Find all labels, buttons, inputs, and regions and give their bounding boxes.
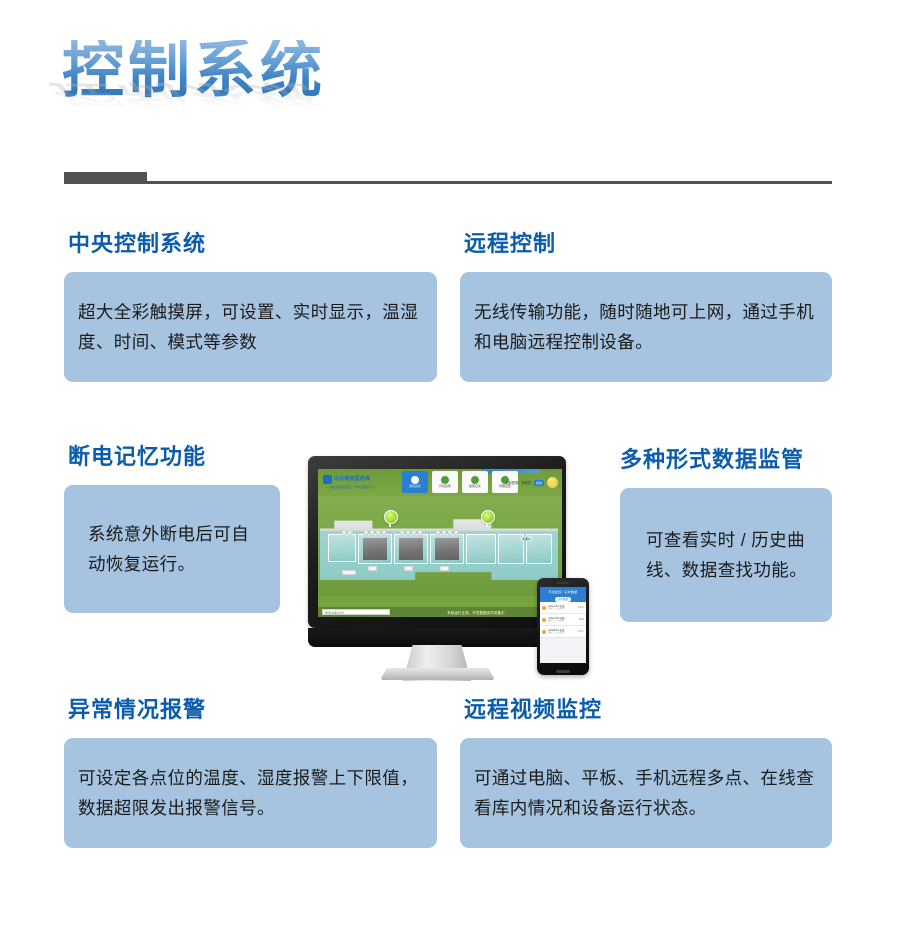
- facility-equipment-unit: [400, 530, 404, 535]
- monitor-screen: 山东神思医药库 — 冷链温湿度监控一体化管理平台 — 监控总览 环境监测 报警记…: [318, 469, 562, 617]
- list-item-value: 2.4℃: [578, 606, 584, 609]
- app-logo-subtext: — 冷链温湿度监控一体化管理平台 —: [325, 485, 378, 489]
- feature-heading: 多种形式数据监管: [620, 448, 832, 472]
- alarm-icon: [471, 476, 479, 484]
- facility-equipment-unit: [376, 530, 380, 535]
- facility-equipment-unit: [454, 530, 458, 535]
- feature-description-box: 可设定各点位的温度、湿度报警上下限值，数据超限发出报警信号。: [64, 738, 437, 848]
- feature-heading: 中央控制系统: [68, 232, 437, 256]
- list-item-subtitle: 更新于 1 分钟前: [548, 620, 577, 623]
- list-item[interactable]: 冷库A-01 温度 更新于 1 分钟前 2.4℃: [540, 602, 586, 614]
- app-logo-text: 山东神思医药库: [334, 477, 370, 483]
- app-tab-bar: 监控总览 环境监测 报警记录 管理设置: [402, 471, 518, 493]
- feature-heading: 异常情况报警: [68, 698, 437, 722]
- tab-environment-monitoring[interactable]: 环境监测: [432, 471, 458, 493]
- facility-equipment-unit: [406, 530, 410, 535]
- facility-rack: [435, 538, 459, 560]
- feature-description-text: 无线传输功能，随时随地可上网，通过手机和电脑远程控制设备。: [474, 297, 818, 358]
- feature-card-remote-control: 远程控制 无线传输功能，随时随地可上网，通过手机和电脑远程控制设备。: [460, 232, 832, 382]
- phone-device: 环境监控 / 实时数据 实时数据 冷库A-01 温度 更新于 1 分钟前 2.4…: [537, 578, 589, 675]
- facility-equipment-unit: [342, 530, 346, 535]
- feature-description-box: 可查看实时 / 历史曲线、数据查找功能。: [620, 488, 832, 622]
- feature-card-multi-form-data-supervision: 多种形式数据监管 可查看实时 / 历史曲线、数据查找功能。: [620, 448, 832, 622]
- phone-home-button[interactable]: [556, 670, 570, 673]
- overview-icon: [411, 476, 419, 484]
- status-dot-icon: [542, 606, 546, 610]
- sensor-marker[interactable]: [481, 510, 495, 524]
- feature-description-text: 系统意外断电后可自动恢复运行。: [88, 519, 266, 580]
- facility-equipment-unit: [418, 530, 422, 535]
- tab-monitoring-overview[interactable]: 监控总览: [402, 471, 428, 493]
- avatar[interactable]: [547, 477, 558, 488]
- feature-description-box: 超大全彩触摸屏，可设置、实时显示，温湿度、时间、模式等参数: [64, 272, 437, 382]
- list-item-value: 56%: [579, 618, 584, 621]
- environment-icon: [441, 476, 449, 484]
- facility-equipment-unit: [440, 566, 449, 571]
- search-input[interactable]: 搜索设备/点位: [322, 609, 390, 615]
- facility-room: [328, 534, 356, 562]
- facility-equipment-unit: [368, 566, 377, 571]
- facility-equipment-unit: [412, 530, 416, 535]
- app-logo: 山东神思医药库: [323, 475, 370, 484]
- divider-thick-segment: [64, 172, 147, 184]
- list-item-main: 冷库A-01 温度 更新于 1 分钟前: [548, 605, 576, 611]
- feature-description-text: 可设定各点位的温度、湿度报警上下限值，数据超限发出报警信号。: [78, 763, 423, 824]
- feature-card-central-control-system: 中央控制系统 超大全彩触摸屏，可设置、实时显示，温湿度、时间、模式等参数: [64, 232, 437, 382]
- list-item-main: 冷库A-02 湿度 更新于 1 分钟前: [548, 617, 577, 623]
- monitor-bezel: 山东神思医药库 — 冷链温湿度监控一体化管理平台 — 监控总览 环境监测 报警记…: [308, 456, 566, 628]
- feature-card-remote-video-monitoring: 远程视频监控 可通过电脑、平板、手机远程多点、在线查看库内情况和设备运行状态。: [460, 698, 832, 848]
- feature-description-text: 超大全彩触摸屏，可设置、实时显示，温湿度、时间、模式等参数: [78, 297, 423, 358]
- monitor-chin: [308, 628, 566, 647]
- feature-heading: 断电记忆功能: [68, 445, 280, 469]
- facility-equipment-unit: [404, 566, 413, 571]
- sensor-marker[interactable]: [384, 510, 398, 524]
- list-item-subtitle: 更新于 2 分钟前: [548, 632, 576, 635]
- feature-heading: 远程控制: [464, 232, 832, 256]
- feature-card-power-off-memory: 断电记忆功能 系统意外断电后可自动恢复运行。: [64, 445, 280, 613]
- facility-3d-floorplan[interactable]: 冷库A: [318, 496, 562, 596]
- tab-alarm-records[interactable]: 报警记录: [462, 471, 488, 493]
- feature-description-box: 无线传输功能，随时随地可上网，通过手机和电脑远程控制设备。: [460, 272, 832, 382]
- list-item[interactable]: 冷库A-02 湿度 更新于 1 分钟前 56%: [540, 614, 586, 626]
- facility-equipment-unit: [448, 530, 452, 535]
- facility-equipment-unit: [342, 570, 356, 575]
- facility-equipment-unit: [370, 530, 374, 535]
- facility-equipment-unit: [442, 530, 446, 535]
- list-item-main: 冷库B-01 温度 更新于 2 分钟前: [548, 629, 576, 635]
- logo-mark-icon: [323, 475, 332, 484]
- feature-description-text: 可查看实时 / 历史曲线、数据查找功能。: [646, 525, 818, 586]
- facility-equipment-unit: [348, 530, 352, 535]
- status-dot-icon: [542, 618, 546, 622]
- facility-equipment-unit: [436, 530, 440, 535]
- list-item-value: 3.1℃: [578, 630, 584, 633]
- facility-equipment-unit: [364, 530, 368, 535]
- phone-speaker-icon: [557, 582, 569, 584]
- facility-zone-label: 冷库A: [520, 536, 532, 541]
- feature-description-text: 可通过电脑、平板、手机远程多点、在线查看库内情况和设备运行状态。: [474, 763, 818, 824]
- status-dot-icon: [542, 630, 546, 634]
- section-divider: [64, 172, 832, 186]
- facility-rack: [363, 538, 387, 560]
- status-badge: 在线: [534, 480, 544, 486]
- app-status-area: 当前登录：管理员 在线: [505, 477, 558, 488]
- phone-screen: 环境监控 / 实时数据 实时数据 冷库A-01 温度 更新于 1 分钟前 2.4…: [540, 587, 586, 663]
- facility-rack: [399, 538, 423, 560]
- tab-label: 监控总览: [409, 485, 421, 488]
- phone-app-header: 环境监控 / 实时数据: [540, 587, 586, 596]
- facility-equipment-unit: [382, 530, 386, 535]
- divider-thin-line: [147, 181, 832, 184]
- facility-room: [466, 534, 496, 564]
- feature-card-abnormal-condition-alarm: 异常情况报警 可设定各点位的温度、湿度报警上下限值，数据超限发出报警信号。: [64, 698, 437, 848]
- feature-description-box: 可通过电脑、平板、手机远程多点、在线查看库内情况和设备运行状态。: [460, 738, 832, 848]
- logged-in-user-text: 当前登录：管理员: [505, 480, 531, 485]
- tab-label: 环境监测: [439, 485, 451, 488]
- page-title-reflection: 控制系统: [43, 80, 332, 110]
- monitor-stand-base: [380, 668, 495, 680]
- list-item[interactable]: 冷库B-01 温度 更新于 2 分钟前 3.1℃: [540, 626, 586, 638]
- page-title-block: 控制系统 控制系统: [62, 40, 582, 170]
- app-footer-bar: 搜索设备/点位 系统运行正常，环境数据实时采集中: [318, 607, 562, 617]
- device-illustration: 山东神思医药库 — 冷链温湿度监控一体化管理平台 — 监控总览 环境监测 报警记…: [305, 448, 595, 680]
- tab-label: 报警记录: [469, 485, 481, 488]
- list-item-subtitle: 更新于 1 分钟前: [548, 608, 576, 611]
- phone-filter-chip[interactable]: 实时数据: [555, 597, 571, 602]
- monitoring-app-header: 山东神思医药库 — 冷链温湿度监控一体化管理平台 — 监控总览 环境监测 报警记…: [318, 469, 562, 496]
- feature-description-box: 系统意外断电后可自动恢复运行。: [64, 485, 280, 613]
- feature-heading: 远程视频监控: [464, 698, 832, 722]
